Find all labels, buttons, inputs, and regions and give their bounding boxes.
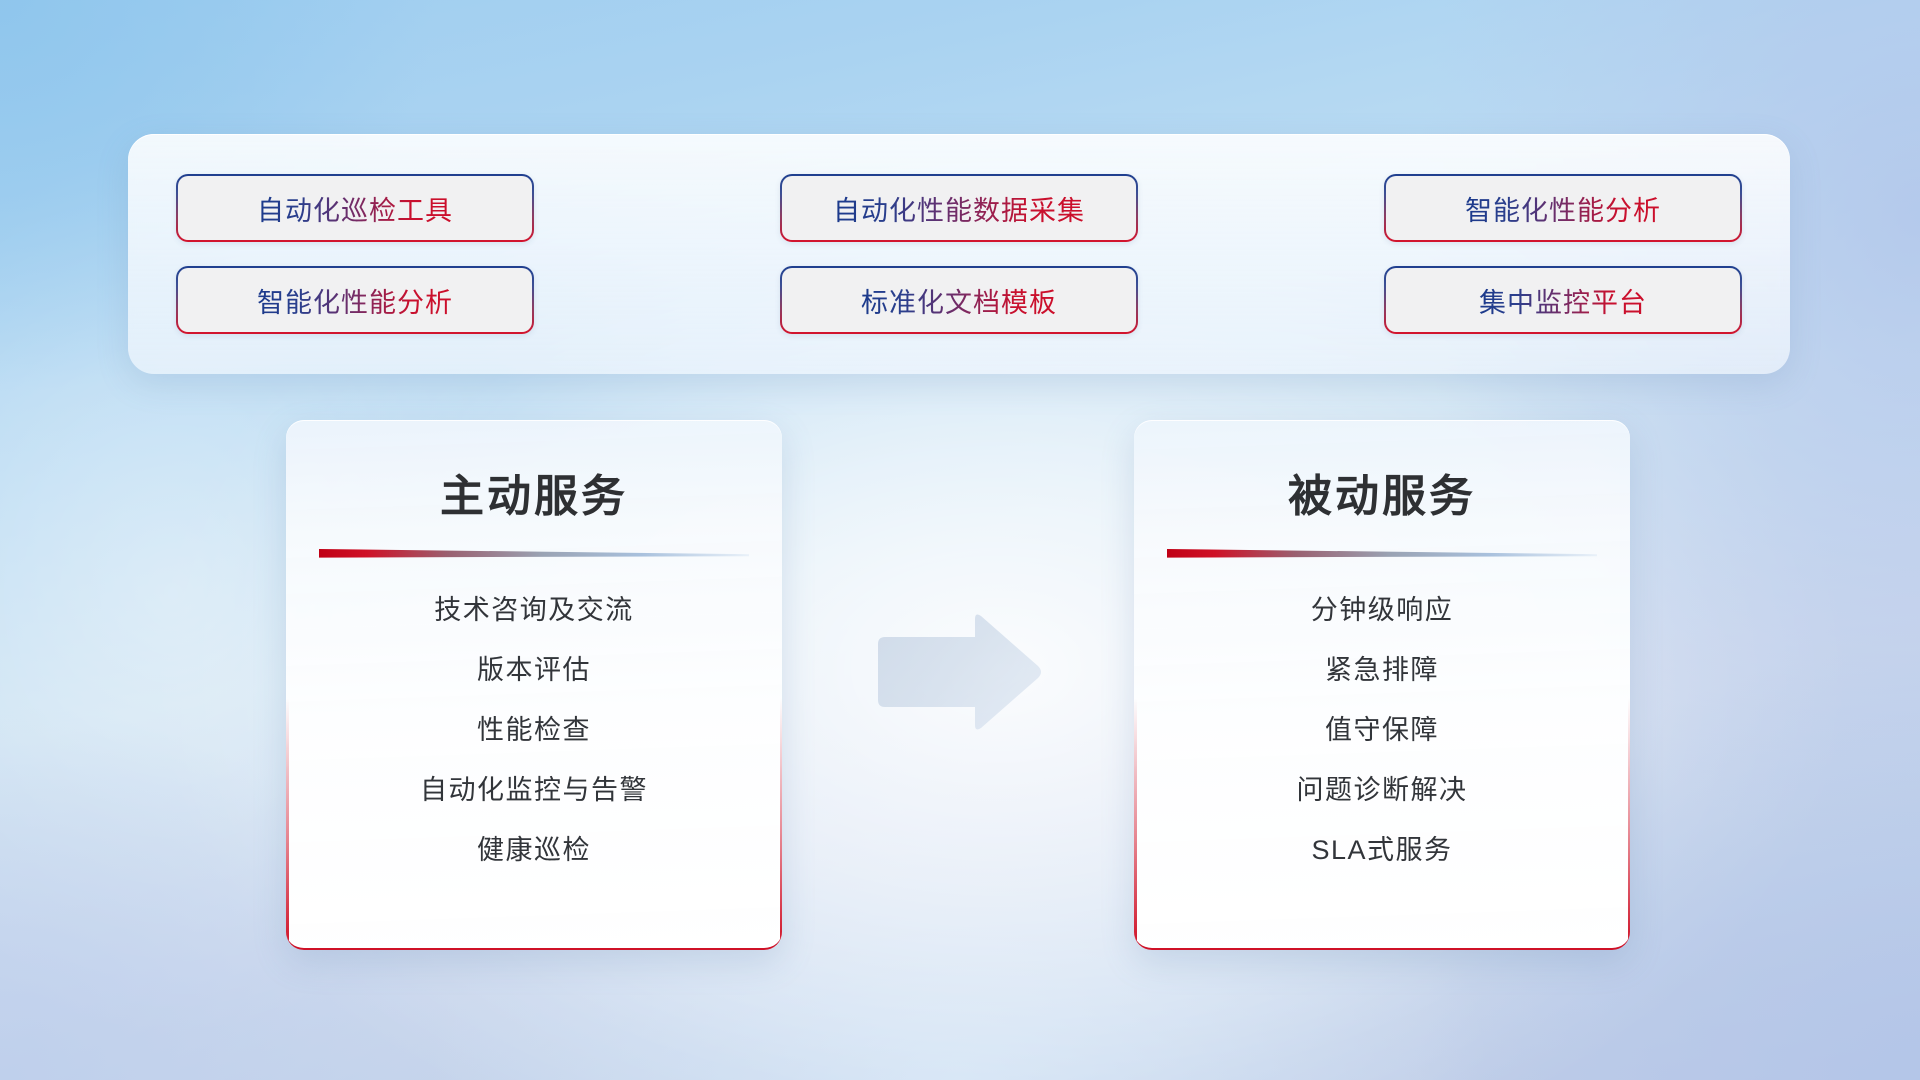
capability-pill-6-inner: 集中监控平台 — [1386, 268, 1740, 332]
capability-pill-3-inner: 智能化性能分析 — [1386, 176, 1740, 240]
capability-pill-5-label: 标准化文档模板 — [861, 281, 1057, 320]
capability-pill-4-label: 智能化性能分析 — [257, 281, 453, 320]
capability-pill-1[interactable]: 自动化巡检工具 — [176, 174, 534, 242]
service-card-reactive: 被动服务 分钟级响应 紧急排障 值守保障 — [1134, 420, 1630, 950]
title-divider-right — [1167, 548, 1597, 559]
capability-pill-2[interactable]: 自动化性能数据采集 — [780, 174, 1138, 242]
service-card-proactive: 主动服务 技术咨询及交流 版本评估 性能检查 — [286, 420, 782, 950]
capability-pill-2-label: 自动化性能数据采集 — [833, 189, 1085, 228]
capability-pill-5-inner: 标准化文档模板 — [782, 268, 1136, 332]
list-item: 健康巡检 — [477, 833, 591, 868]
capability-pill-6[interactable]: 集中监控平台 — [1384, 266, 1742, 334]
list-item: 自动化监控与告警 — [420, 773, 648, 808]
service-card-proactive-items: 技术咨询及交流 版本评估 性能检查 自动化监控与告警 健康巡检 — [286, 593, 782, 868]
capability-pill-1-inner: 自动化巡检工具 — [178, 176, 532, 240]
service-card-reactive-items: 分钟级响应 紧急排障 值守保障 问题诊断解决 SLA式服务 — [1134, 593, 1630, 868]
capability-pill-1-label: 自动化巡检工具 — [257, 189, 453, 228]
list-item: 紧急排障 — [1325, 653, 1439, 688]
capabilities-panel: 自动化巡检工具 自动化性能数据采集 智能化性能分析 智能化性能分析 — [128, 134, 1790, 374]
list-item: SLA式服务 — [1311, 833, 1452, 868]
slide-canvas: 自动化巡检工具 自动化性能数据采集 智能化性能分析 智能化性能分析 — [0, 0, 1920, 1080]
list-item: 值守保障 — [1325, 713, 1439, 748]
capabilities-row-2: 智能化性能分析 标准化文档模板 集中监控平台 — [176, 266, 1742, 334]
capability-pill-3-label: 智能化性能分析 — [1465, 189, 1661, 228]
right-arrow-icon — [872, 612, 1044, 732]
title-divider-left — [319, 548, 749, 559]
service-card-reactive-title: 被动服务 — [1134, 460, 1630, 524]
capability-pill-3[interactable]: 智能化性能分析 — [1384, 174, 1742, 242]
list-item: 分钟级响应 — [1311, 593, 1454, 628]
list-item: 问题诊断解决 — [1297, 773, 1468, 808]
capability-pill-5[interactable]: 标准化文档模板 — [780, 266, 1138, 334]
capability-pill-2-inner: 自动化性能数据采集 — [782, 176, 1136, 240]
capability-pill-4[interactable]: 智能化性能分析 — [176, 266, 534, 334]
capabilities-row-1: 自动化巡检工具 自动化性能数据采集 智能化性能分析 — [176, 174, 1742, 242]
capability-pill-6-label: 集中监控平台 — [1479, 281, 1647, 320]
service-card-proactive-title: 主动服务 — [286, 460, 782, 524]
list-item: 版本评估 — [477, 653, 591, 688]
capability-pill-4-inner: 智能化性能分析 — [178, 268, 532, 332]
list-item: 性能检查 — [477, 713, 591, 748]
list-item: 技术咨询及交流 — [434, 593, 634, 628]
